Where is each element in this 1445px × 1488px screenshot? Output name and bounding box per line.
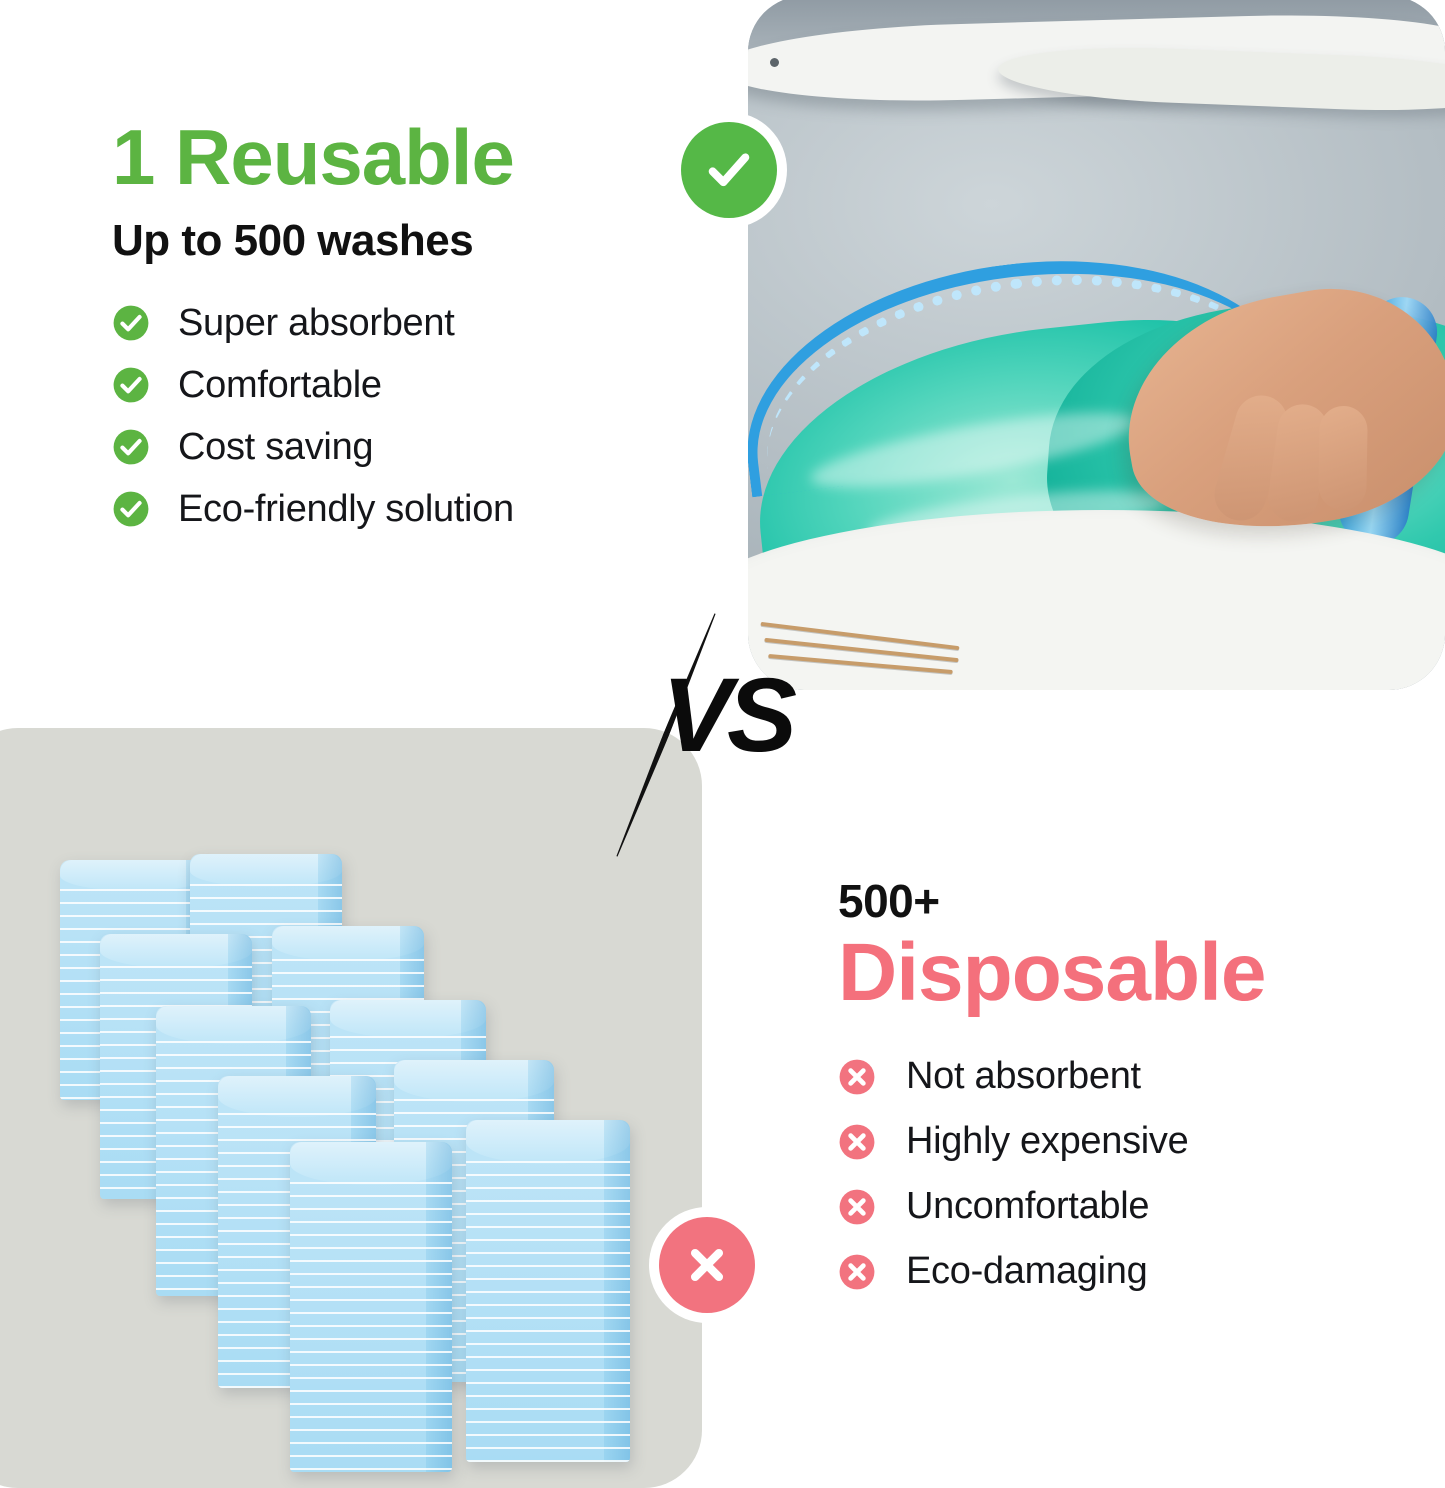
disposable-section: 500+ Disposable Not absorbent Highly exp… [838, 874, 1398, 1315]
feature-label: Highly expensive [906, 1120, 1188, 1163]
reusable-product-photo [748, 0, 1445, 690]
list-item: Highly expensive [838, 1120, 1398, 1163]
feature-label: Uncomfortable [906, 1185, 1149, 1228]
finger [1318, 406, 1368, 511]
list-item: Uncomfortable [838, 1185, 1398, 1228]
pad-stack [466, 1120, 630, 1462]
cross-circle-icon [659, 1217, 755, 1313]
cross-circle-icon [838, 1058, 876, 1096]
disposable-title: Disposable [838, 930, 1398, 1015]
pad-stack [290, 1142, 452, 1472]
feature-label: Comfortable [178, 364, 382, 407]
disposable-pad-stacks [0, 728, 702, 1488]
reusable-section: 1 Reusable Up to 500 washes Super absorb… [112, 118, 702, 550]
list-item: Cost saving [112, 426, 702, 469]
versus-label: VS [662, 663, 792, 768]
disposable-product-photo [0, 728, 702, 1488]
check-circle-icon [112, 366, 150, 404]
list-item: Eco-friendly solution [112, 488, 702, 531]
list-item: Comfortable [112, 364, 702, 407]
rim-screw [770, 58, 779, 67]
feature-label: Cost saving [178, 426, 373, 469]
check-circle-icon [112, 490, 150, 528]
feature-label: Eco-friendly solution [178, 488, 514, 531]
feature-label: Eco-damaging [906, 1250, 1147, 1293]
disposable-count: 500+ [838, 874, 1398, 928]
list-item: Not absorbent [838, 1055, 1398, 1098]
reusable-title: 1 Reusable [112, 118, 702, 198]
reusable-subtitle: Up to 500 washes [112, 216, 702, 266]
reusable-feature-list: Super absorbent Comfortable Cost saving … [112, 302, 702, 531]
feature-label: Not absorbent [906, 1055, 1141, 1098]
feature-label: Super absorbent [178, 302, 454, 345]
cross-circle-icon [838, 1253, 876, 1291]
cross-circle-icon [838, 1188, 876, 1226]
disposable-feature-list: Not absorbent Highly expensive Uncomfort… [838, 1055, 1398, 1293]
cross-circle-icon [838, 1123, 876, 1161]
check-circle-icon [112, 428, 150, 466]
list-item: Super absorbent [112, 302, 702, 345]
check-circle-icon [112, 304, 150, 342]
list-item: Eco-damaging [838, 1250, 1398, 1293]
